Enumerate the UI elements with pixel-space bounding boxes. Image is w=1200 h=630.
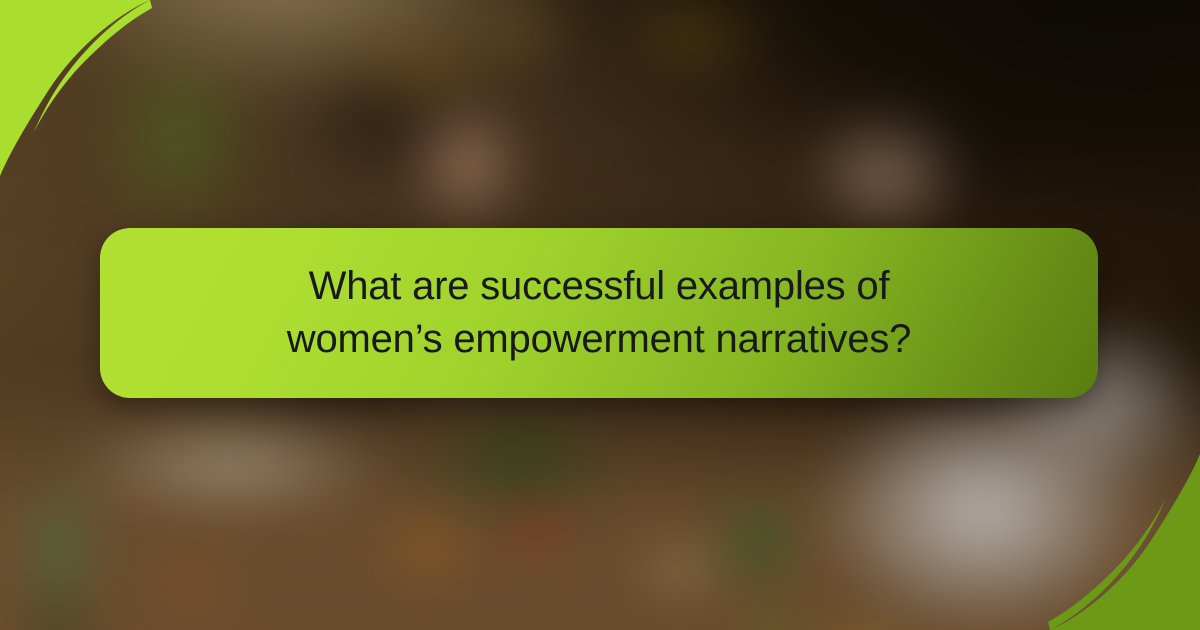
- question-text: What are successful examples of women’s …: [269, 260, 929, 366]
- screenshot-canvas: What are successful examples of women’s …: [0, 0, 1200, 630]
- question-card: What are successful examples of women’s …: [100, 228, 1098, 398]
